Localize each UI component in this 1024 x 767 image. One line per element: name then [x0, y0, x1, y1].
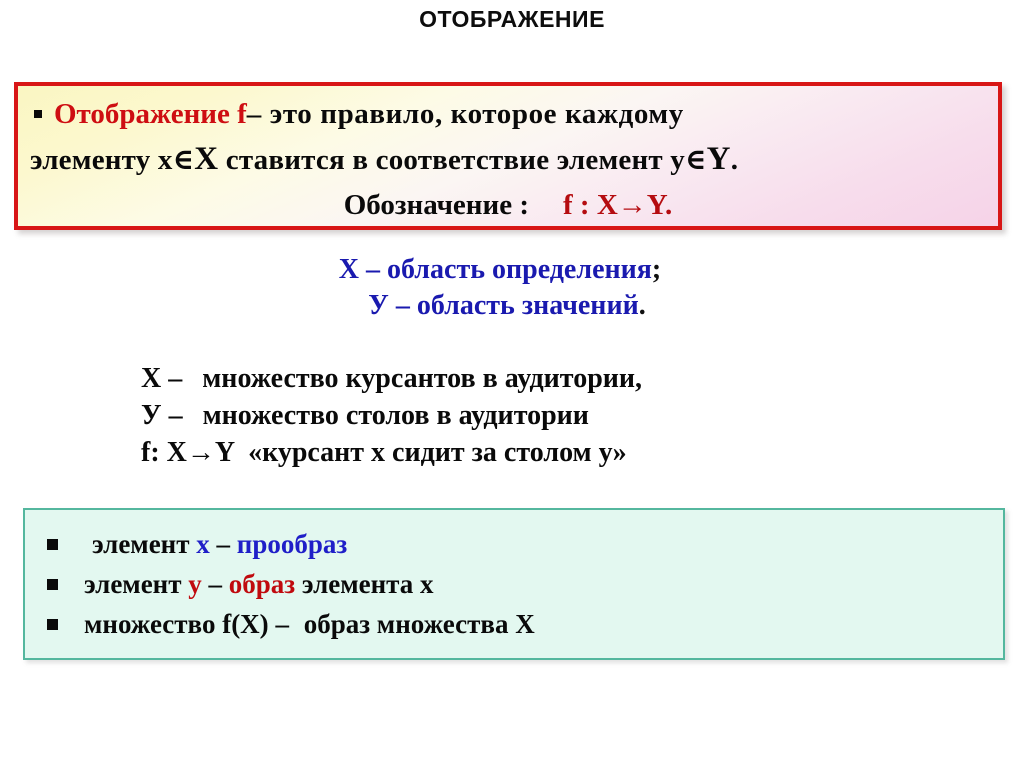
definition-line-3: Обозначение :f : X→Y.	[28, 183, 988, 228]
definition-line-1-rest: – это правило, которое каждому	[247, 98, 684, 130]
range-line: У – область значений.	[0, 288, 1024, 324]
term-prefix-3: множество f(X)	[84, 609, 269, 639]
square-bullet-icon	[47, 539, 58, 550]
domain-line: Х – область определения;	[0, 252, 1024, 288]
term-symbol-1: x	[196, 529, 210, 559]
square-bullet-icon	[47, 619, 58, 630]
example-line-3: f: X→Y«курсант x сидит за столом y»	[141, 434, 1001, 471]
example-text-3: «курсант x сидит за столом y»	[248, 437, 627, 468]
range-dash: –	[389, 290, 417, 321]
set-y-symbol: Y	[707, 141, 731, 177]
domain-dash: –	[359, 254, 387, 285]
member-sign-icon-1: ∈	[173, 144, 195, 176]
term-name-3: образ множества X	[304, 609, 535, 639]
example-symbol-x: Х	[141, 363, 161, 394]
term-prefix-2: элемент	[84, 569, 188, 599]
definition-line-1: Отображение f– это правило, которое кажд…	[28, 92, 988, 137]
example-dash-1: –	[161, 363, 189, 394]
terminology-item-preimage: элемент x – прообраз	[25, 524, 1003, 564]
term-name-2: образ	[229, 569, 295, 599]
domain-range-block: Х – область определения; У – область зна…	[0, 252, 1024, 324]
notation-formula: f : X→Y.	[563, 189, 672, 221]
example-line-2: У – множество столов в аудитории	[141, 397, 1001, 434]
page-title: ОТОБРАЖЕНИЕ	[0, 6, 1024, 32]
definition-text-a: элементу x	[30, 144, 173, 176]
term-suffix-2: элемента x	[295, 569, 433, 599]
term-dash-1: –	[210, 529, 237, 559]
term-symbol-2: у	[188, 569, 202, 599]
term-dash-2: –	[202, 569, 229, 599]
term-dash-3: –	[269, 609, 296, 639]
member-sign-icon-2: ∈	[685, 144, 707, 176]
example-block: Х – множество курсантов в аудитории, У –…	[141, 360, 1001, 471]
example-dash-2: –	[162, 400, 190, 431]
term-name-1: прообраз	[237, 529, 347, 559]
example-text-2: множество столов в аудитории	[203, 400, 589, 431]
terminology-item-set-image: множество f(X) – образ множества X	[25, 604, 1003, 644]
square-bullet-icon	[34, 110, 42, 118]
notation-label: Обозначение :	[344, 189, 529, 221]
square-bullet-icon	[47, 579, 58, 590]
definition-term: Отображение f	[54, 98, 247, 130]
range-punct: .	[639, 290, 646, 321]
example-text-1: множество курсантов в аудитории,	[202, 363, 642, 394]
range-symbol: У	[368, 290, 389, 321]
term-prefix-1: элемент	[92, 529, 196, 559]
domain-punct: ;	[652, 254, 661, 285]
range-text: область значений	[417, 290, 639, 321]
definition-text-b: ставится в соответствие элемент y	[218, 144, 685, 176]
definition-callout-box: Отображение f– это правило, которое кажд…	[14, 82, 1002, 230]
set-x-symbol: X	[194, 141, 218, 177]
definition-line-2-period: .	[731, 144, 738, 176]
example-mapping: f: X→Y	[141, 437, 235, 468]
domain-symbol: Х	[339, 254, 359, 285]
definition-line-2: элементу x∈X ставится в соответствие эле…	[28, 137, 988, 183]
domain-text: область определения	[387, 254, 652, 285]
example-line-1: Х – множество курсантов в аудитории,	[141, 360, 1001, 397]
terminology-callout-box: элемент x – прообраз элемент у – образ э…	[23, 508, 1005, 660]
terminology-item-image: элемент у – образ элемента x	[25, 564, 1003, 604]
example-symbol-y: У	[141, 400, 162, 431]
